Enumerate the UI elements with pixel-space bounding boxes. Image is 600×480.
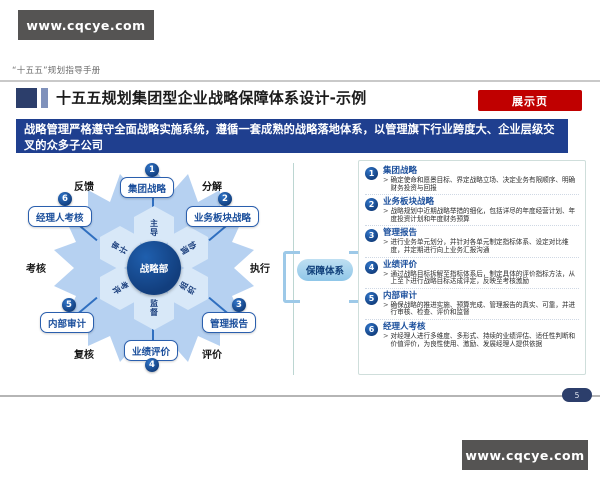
node-manager-assessment[interactable]: 经理人考核 bbox=[28, 206, 92, 227]
hub-core: 战略部 bbox=[127, 241, 181, 295]
panel-item-text: 集团战略 >确定使命和愿景目标、界定战略立场、决定业务有限顺序、明确财务投资与回… bbox=[383, 166, 579, 192]
panel-item-text: 业绩评价 >通过战略目标拆解至指标体系后，制定具体的评价指标方法，从上至下进行战… bbox=[383, 260, 579, 286]
panel-item-heading: 业务板块战略 bbox=[383, 197, 579, 207]
panel-item-text: 经理人考核 >对经理人进行多维度、多形式、持续的业绩评估、适任性判断和价值评价，… bbox=[383, 322, 579, 348]
panel-item-heading: 管理报告 bbox=[383, 228, 579, 238]
edge-label-execute: 执行 bbox=[250, 260, 270, 275]
edge-label-evaluate: 评价 bbox=[202, 346, 222, 361]
node-business-strategy[interactable]: 业务板块战略 bbox=[186, 206, 259, 227]
spoke-top-right-label: 协调 bbox=[178, 239, 199, 257]
node-management-report[interactable]: 管理报告 bbox=[202, 312, 256, 333]
panel-item-number: 4 bbox=[365, 261, 378, 274]
spoke-bottom-label: 监督 bbox=[149, 299, 159, 317]
panel-item-body-text: 确定使命和愿景目标、界定战略立场、决定业务有限顺序、明确财务投资与回报 bbox=[391, 177, 579, 192]
panel-item-body: >进行业务单元划分，并针对各单元制定指标体系、设定对比维度，并定期进行向上业务汇… bbox=[383, 239, 579, 254]
watermark-bottom: www.cqcye.com bbox=[462, 440, 588, 470]
panel-row[interactable]: 6 经理人考核 >对经理人进行多维度、多形式、持续的业绩评估、适任性判断和价值评… bbox=[365, 322, 579, 350]
node-number-5: 5 bbox=[62, 298, 76, 312]
panel-item-heading: 内部审计 bbox=[383, 291, 579, 301]
node-number-4: 4 bbox=[145, 358, 159, 372]
spoke-bottom-right-label: 组织 bbox=[178, 279, 199, 297]
watermark-top: www.cqcye.com bbox=[18, 10, 154, 40]
panel-item-body-text: 确保战略的推进实施、预算完成、管理报告的真实、可靠，并进行审核、检查、评价和监督 bbox=[391, 302, 579, 317]
subtitle-banner: 战略管理严格遵守全面战略实施系统，遵循一套成熟的战略落地体系，以管理旗下行业跨度… bbox=[16, 119, 568, 153]
node-number-1: 1 bbox=[145, 163, 159, 177]
spoke-top-left-label: 审计 bbox=[110, 239, 131, 257]
panel-item-body-text: 战略规划中近期战略举措的细化，包括详尽的年度经营计划、年度投资计划和年度财务预算 bbox=[391, 208, 579, 223]
node-group-strategy[interactable]: 集团战略 bbox=[120, 177, 174, 198]
document-label: “十五五”规划指导手册 bbox=[12, 64, 101, 76]
title-marker-large bbox=[16, 88, 37, 108]
panel-item-text: 内部审计 >确保战略的推进实施、预算完成、管理报告的真实、可靠，并进行审核、检查… bbox=[383, 291, 579, 317]
panel-item-heading: 经理人考核 bbox=[383, 322, 579, 332]
panel-item-number: 3 bbox=[365, 229, 378, 242]
panel-item-body-text: 进行业务单元划分，并针对各单元制定指标体系、设定对比维度，并定期进行向上业务汇报… bbox=[391, 239, 579, 254]
panel-row[interactable]: 1 集团战略 >确定使命和愿景目标、界定战略立场、决定业务有限顺序、明确财务投资… bbox=[365, 166, 579, 195]
node-number-2: 2 bbox=[218, 192, 232, 206]
node-number-6: 6 bbox=[58, 192, 72, 206]
panel-item-body: >确定使命和愿景目标、界定战略立场、决定业务有限顺序、明确财务投资与回报 bbox=[383, 177, 579, 192]
panel-item-number: 5 bbox=[365, 292, 378, 305]
panel-item-number: 6 bbox=[365, 323, 378, 336]
bullet-arrow-icon: > bbox=[383, 302, 389, 317]
panel-item-number: 2 bbox=[365, 198, 378, 211]
bullet-arrow-icon: > bbox=[383, 239, 389, 254]
panel-item-body: >通过战略目标拆解至指标体系后，制定具体的评价指标方法，从上至下进行战略目标达成… bbox=[383, 271, 579, 286]
panel-item-heading: 集团战略 bbox=[383, 166, 579, 176]
node-internal-audit[interactable]: 内部审计 bbox=[40, 312, 94, 333]
panel-item-body: >战略规划中近期战略举措的细化，包括详尽的年度经营计划、年度投资计划和年度财务预… bbox=[383, 208, 579, 223]
edge-label-feedback: 反馈 bbox=[74, 178, 94, 193]
header-divider bbox=[0, 80, 600, 82]
bullet-arrow-icon: > bbox=[383, 177, 389, 192]
spoke-top-label: 主导 bbox=[149, 219, 159, 237]
node-number-3: 3 bbox=[232, 298, 246, 312]
panel-item-number: 1 bbox=[365, 167, 378, 180]
edge-label-decompose: 分解 bbox=[202, 178, 222, 193]
page-title: 十五五规划集团型企业战略保障体系设计-示例 bbox=[56, 88, 366, 108]
panel-item-body-text: 通过战略目标拆解至指标体系后，制定具体的评价指标方法，从上至下进行战略目标达成评… bbox=[391, 271, 579, 286]
panel-row[interactable]: 4 业绩评价 >通过战略目标拆解至指标体系后，制定具体的评价指标方法，从上至下进… bbox=[365, 260, 579, 289]
title-marker-small bbox=[41, 88, 48, 108]
panel-item-body-text: 对经理人进行多维度、多形式、持续的业绩评估、适任性判断和价值评价，为良性使用、激… bbox=[391, 333, 579, 348]
spoke-bottom-left-label: 考评 bbox=[110, 279, 131, 297]
panel-item-text: 管理报告 >进行业务单元划分，并针对各单元制定指标体系、设定对比维度，并定期进行… bbox=[383, 228, 579, 254]
page-number-badge: 5 bbox=[562, 388, 592, 402]
guarantee-system-badge[interactable]: 保障体系 bbox=[297, 259, 353, 281]
panel-row[interactable]: 2 业务板块战略 >战略规划中近期战略举措的细化，包括详尽的年度经营计划、年度投… bbox=[365, 197, 579, 226]
panel-item-text: 业务板块战略 >战略规划中近期战略举措的细化，包括详尽的年度经营计划、年度投资计… bbox=[383, 197, 579, 223]
bullet-arrow-icon: > bbox=[383, 271, 389, 286]
panel-item-heading: 业绩评价 bbox=[383, 260, 579, 270]
bullet-arrow-icon: > bbox=[383, 333, 389, 348]
panel-item-body: >对经理人进行多维度、多形式、持续的业绩评估、适任性判断和价值评价，为良性使用、… bbox=[383, 333, 579, 348]
chevron-left-icon bbox=[283, 251, 300, 303]
edge-label-review: 复核 bbox=[74, 346, 94, 361]
panel-item-body: >确保战略的推进实施、预算完成、管理报告的真实、可靠，并进行审核、检查、评价和监… bbox=[383, 302, 579, 317]
detail-panel: 1 集团战略 >确定使命和愿景目标、界定战略立场、决定业务有限顺序、明确财务投资… bbox=[358, 160, 586, 375]
edge-label-assess: 考核 bbox=[26, 260, 46, 275]
show-page-badge[interactable]: 展示页 bbox=[478, 90, 582, 111]
bullet-arrow-icon: > bbox=[383, 208, 389, 223]
hub-hex-group: 主导 协调 组织 监督 考评 审计 战略部 bbox=[96, 210, 212, 326]
footer-divider bbox=[0, 395, 600, 397]
panel-row[interactable]: 3 管理报告 >进行业务单元划分，并针对各单元制定指标体系、设定对比维度，并定期… bbox=[365, 228, 579, 257]
panel-row[interactable]: 5 内部审计 >确保战略的推进实施、预算完成、管理报告的真实、可靠，并进行审核、… bbox=[365, 291, 579, 320]
